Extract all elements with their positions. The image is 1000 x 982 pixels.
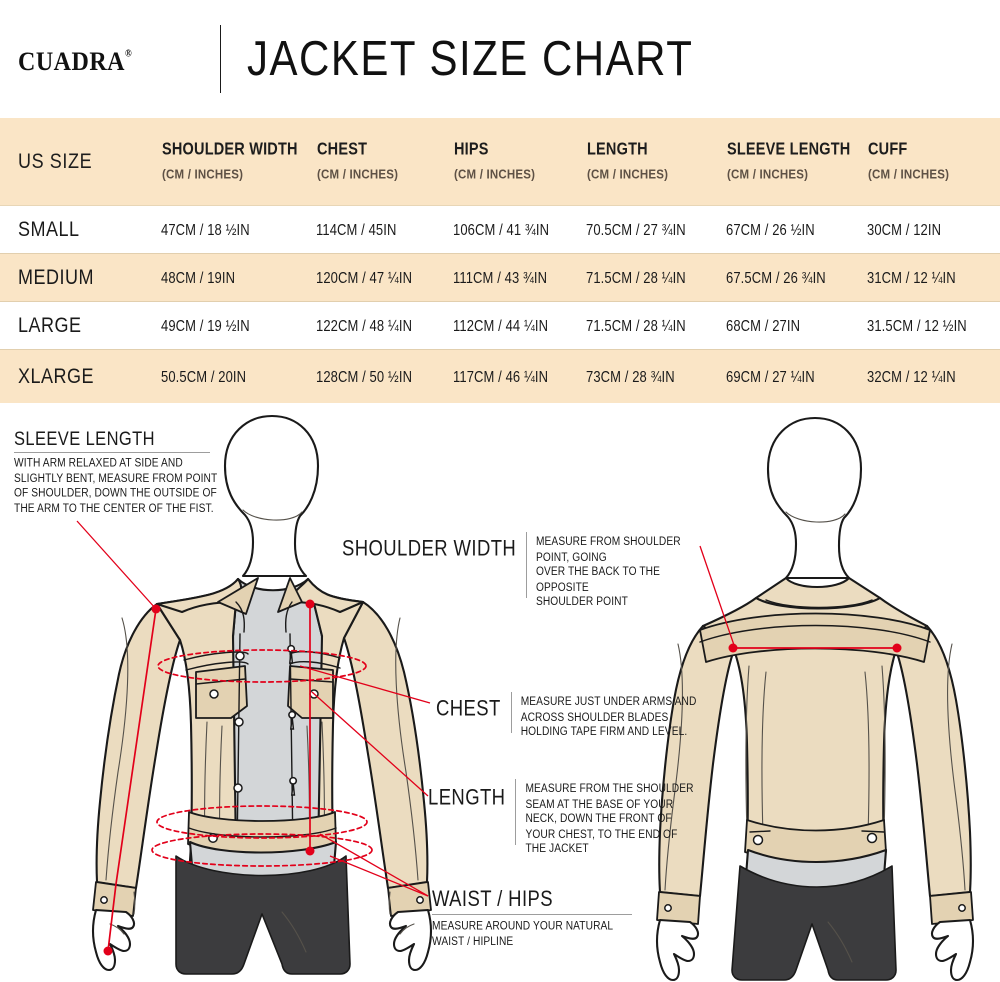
annotation-divider bbox=[432, 914, 632, 915]
annotation-length-body: MEASURE FROM THE SHOULDER SEAM AT THE BA… bbox=[525, 779, 693, 858]
leader-sleeve-length bbox=[77, 521, 156, 609]
cell-shoulder-width: 48CM / 19IN bbox=[144, 253, 299, 301]
cell-length: 71.5CM / 28 ¼IN bbox=[569, 301, 709, 349]
annotation-shoulder-width: SHOULDER WIDTH MEASURE FROM SHOULDER POI… bbox=[342, 532, 702, 598]
table-row: LARGE 49CM / 19 ½IN 122CM / 48 ¼IN 112CM… bbox=[0, 301, 1000, 349]
brand-logo-wrap: Cuadra® bbox=[0, 0, 218, 118]
cell-size: XLARGE bbox=[0, 349, 144, 403]
annotation-length-title: LENGTH bbox=[428, 776, 515, 810]
cell-length: 70.5CM / 27 ¾IN bbox=[569, 205, 709, 253]
col-header-label: CHEST bbox=[317, 140, 436, 159]
annotation-divider bbox=[14, 452, 210, 453]
cell-size: MEDIUM bbox=[0, 253, 144, 301]
cell-sleeve-length: 67CM / 26 ½IN bbox=[709, 205, 850, 253]
cell-shoulder-width: 47CM / 18 ½IN bbox=[144, 205, 299, 253]
annotation-divider bbox=[515, 779, 516, 845]
cell-size: SMALL bbox=[0, 205, 144, 253]
cell-chest: 114CM / 45IN bbox=[299, 205, 436, 253]
brand-logo-text: Cuadra bbox=[18, 38, 125, 79]
cell-chest: 128CM / 50 ½IN bbox=[299, 349, 436, 403]
annotation-chest-title: CHEST bbox=[436, 690, 511, 722]
table-row: XLARGE 50.5CM / 20IN 128CM / 50 ½IN 117C… bbox=[0, 349, 1000, 403]
col-header-label: LENGTH bbox=[587, 140, 709, 159]
col-header-label: SLEEVE LENGTH bbox=[727, 140, 850, 159]
cell-cuff: 32CM / 12 ¼IN bbox=[850, 349, 1000, 403]
cell-chest: 120CM / 47 ¼IN bbox=[299, 253, 436, 301]
col-header-label: SHOULDER WIDTH bbox=[162, 140, 299, 159]
col-header-units: (CM / INCHES) bbox=[727, 168, 850, 182]
annotation-divider bbox=[526, 532, 527, 598]
page-title: JACKET SIZE CHART bbox=[247, 31, 693, 87]
cell-cuff: 31.5CM / 12 ½IN bbox=[850, 301, 1000, 349]
cell-cuff: 31CM / 12 ¼IN bbox=[850, 253, 1000, 301]
cell-length: 73CM / 28 ¾IN bbox=[569, 349, 709, 403]
table-header-row: US SIZE SHOULDER WIDTH (CM / INCHES) CHE… bbox=[0, 118, 1000, 205]
col-header-shoulder-width: SHOULDER WIDTH (CM / INCHES) bbox=[144, 118, 299, 205]
header-divider bbox=[220, 25, 221, 93]
cell-hips: 117CM / 46 ¼IN bbox=[436, 349, 569, 403]
annotation-sleeve-length: SLEEVE LENGTH WITH ARM RELAXED AT SIDE A… bbox=[14, 430, 244, 507]
col-header-units: (CM / INCHES) bbox=[587, 168, 709, 182]
col-header-us-size: US SIZE bbox=[0, 118, 144, 205]
annotation-divider bbox=[511, 692, 512, 733]
cell-chest: 122CM / 48 ¼IN bbox=[299, 301, 436, 349]
cell-hips: 106CM / 41 ¾IN bbox=[436, 205, 569, 253]
col-header-units: (CM / INCHES) bbox=[454, 168, 569, 182]
annotation-shoulder-width-title: SHOULDER WIDTH bbox=[342, 530, 526, 562]
cuadra-logo: Cuadra® bbox=[18, 38, 132, 81]
cell-length: 71.5CM / 28 ¼IN bbox=[569, 253, 709, 301]
table-row: SMALL 47CM / 18 ½IN 114CM / 45IN 106CM /… bbox=[0, 205, 1000, 253]
col-header-sleeve-length: SLEEVE LENGTH (CM / INCHES) bbox=[709, 118, 850, 205]
page-header: Cuadra® JACKET SIZE CHART bbox=[0, 0, 1000, 118]
cell-sleeve-length: 67.5CM / 26 ¾IN bbox=[709, 253, 850, 301]
measurement-illustration: .ol { fill:none; stroke:#1A1A1A; stroke-… bbox=[0, 404, 1000, 982]
col-header-hips: HIPS (CM / INCHES) bbox=[436, 118, 569, 205]
cell-hips: 111CM / 43 ¾IN bbox=[436, 253, 569, 301]
registered-mark-icon: ® bbox=[125, 47, 132, 58]
annotation-sleeve-length-title: SLEEVE LENGTH bbox=[14, 428, 244, 450]
annotation-sleeve-length-body: WITH ARM RELAXED AT SIDE AND SLIGHTLY BE… bbox=[14, 457, 244, 517]
size-chart-page: Cuadra® JACKET SIZE CHART US SIZE SHOULD… bbox=[0, 0, 1000, 982]
cell-hips: 112CM / 44 ¼IN bbox=[436, 301, 569, 349]
annotation-shoulder-width-body: MEASURE FROM SHOULDER POINT, GOING OVER … bbox=[536, 532, 702, 611]
col-header-units: (CM / INCHES) bbox=[868, 168, 1000, 182]
cell-cuff: 30CM / 12IN bbox=[850, 205, 1000, 253]
cell-size: LARGE bbox=[0, 301, 144, 349]
annotation-waist-hips: WAIST / HIPS MEASURE AROUND YOUR NATURAL… bbox=[432, 888, 682, 945]
col-header-label: HIPS bbox=[454, 140, 569, 159]
size-chart-table: US SIZE SHOULDER WIDTH (CM / INCHES) CHE… bbox=[0, 118, 1000, 403]
col-header-length: LENGTH (CM / INCHES) bbox=[569, 118, 709, 205]
annotation-chest-body: MEASURE JUST UNDER ARMS AND ACROSS SHOUL… bbox=[521, 692, 697, 741]
col-header-label: CUFF bbox=[868, 140, 1000, 159]
annotation-waist-hips-body: MEASURE AROUND YOUR NATURAL WAIST / HIPL… bbox=[432, 920, 682, 950]
cell-sleeve-length: 68CM / 27IN bbox=[709, 301, 850, 349]
col-header-units: (CM / INCHES) bbox=[162, 168, 299, 182]
col-header-units: (CM / INCHES) bbox=[317, 168, 436, 182]
cell-shoulder-width: 49CM / 19 ½IN bbox=[144, 301, 299, 349]
annotation-chest: CHEST MEASURE JUST UNDER ARMS AND ACROSS… bbox=[436, 692, 736, 733]
cell-shoulder-width: 50.5CM / 20IN bbox=[144, 349, 299, 403]
annotation-waist-hips-title: WAIST / HIPS bbox=[432, 886, 682, 912]
col-header-label: US SIZE bbox=[18, 149, 144, 174]
table-row: MEDIUM 48CM / 19IN 120CM / 47 ¼IN 111CM … bbox=[0, 253, 1000, 301]
annotation-length: LENGTH MEASURE FROM THE SHOULDER SEAM AT… bbox=[428, 779, 728, 845]
cell-sleeve-length: 69CM / 27 ¼IN bbox=[709, 349, 850, 403]
col-header-cuff: CUFF (CM / INCHES) bbox=[850, 118, 1000, 205]
col-header-chest: CHEST (CM / INCHES) bbox=[299, 118, 436, 205]
